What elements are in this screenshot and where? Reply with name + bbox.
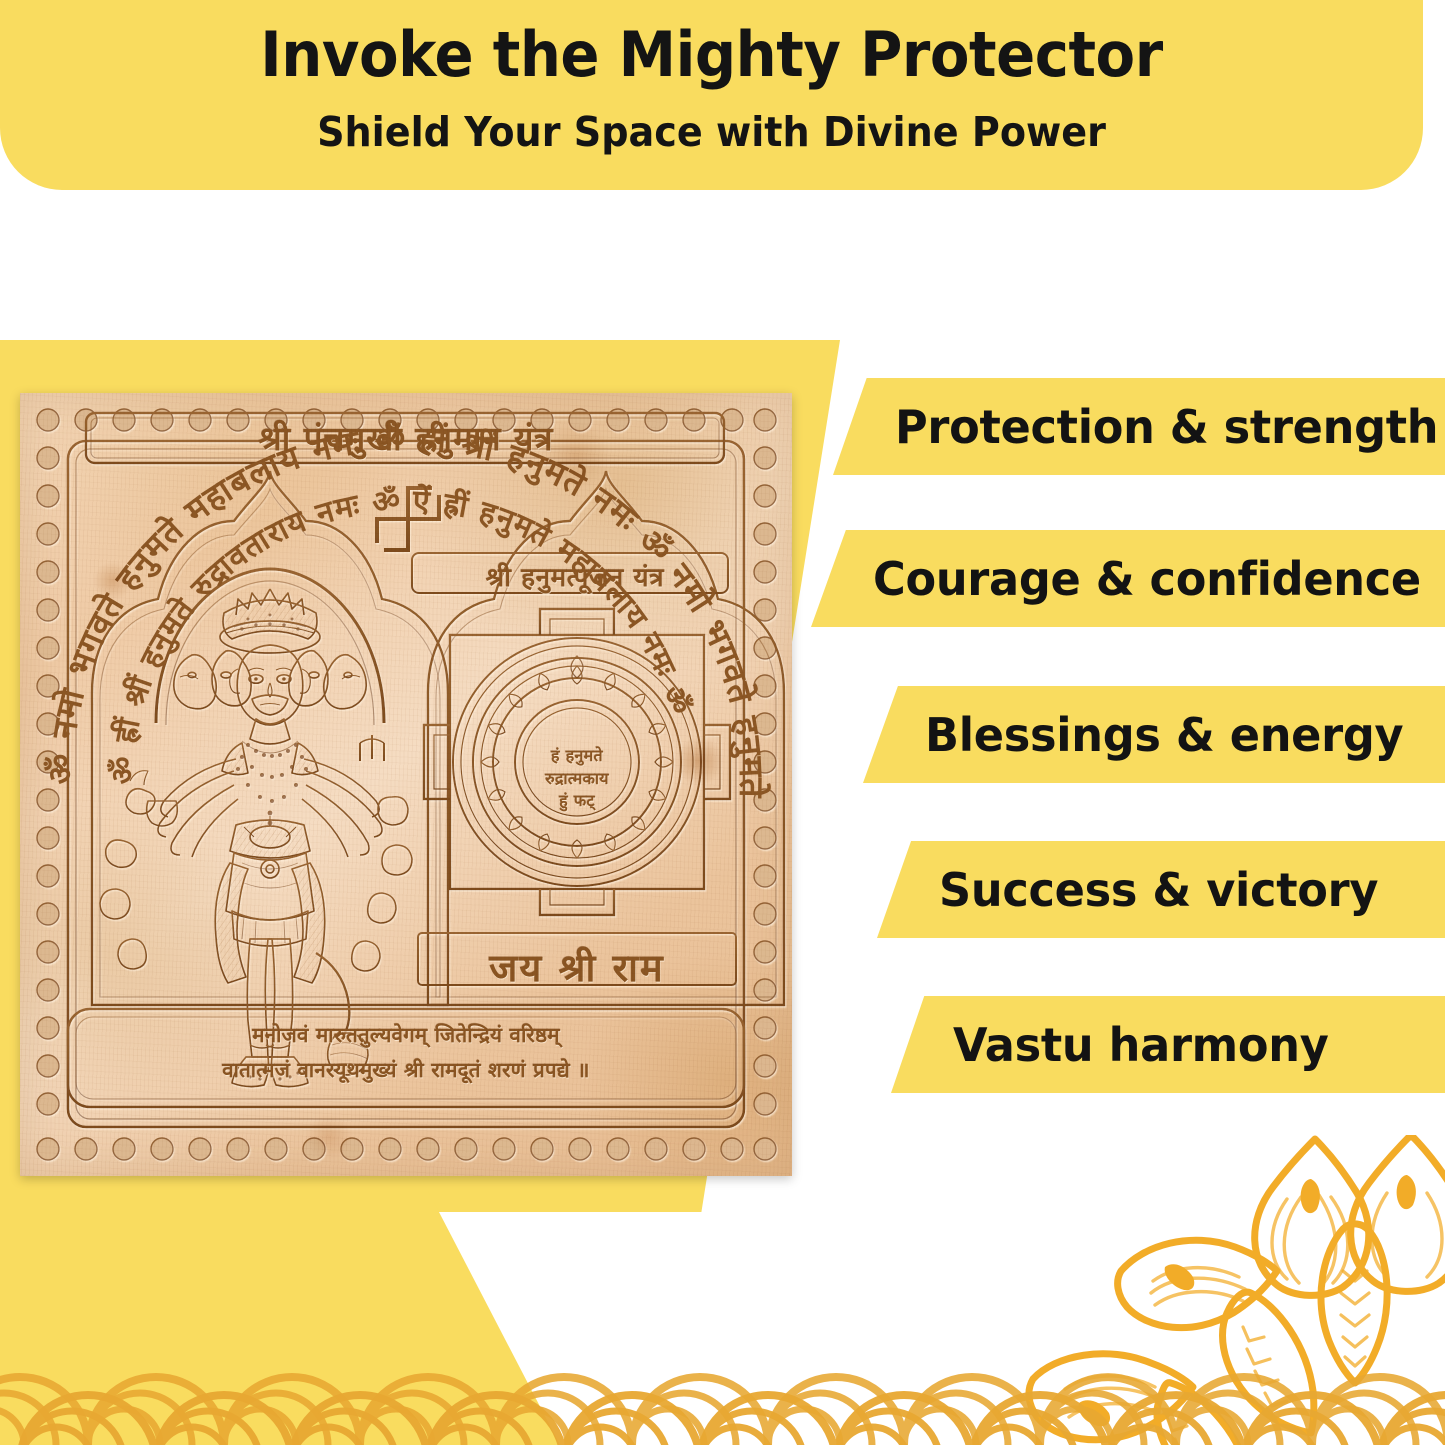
- poster-canvas: श्री पंचमुखी हनुमान यंत्र श्री हनुमत्पूज…: [0, 0, 1445, 1445]
- feature-label: Protection & strength: [895, 400, 1438, 454]
- feature-item-success[interactable]: Success & victory: [877, 841, 1445, 938]
- feature-label: Success & victory: [939, 863, 1378, 917]
- feature-label: Courage & confidence: [873, 552, 1421, 606]
- feature-list: Protection & strength Courage & confiden…: [0, 0, 1445, 1445]
- feature-label: Vastu harmony: [953, 1018, 1328, 1072]
- feature-item-courage[interactable]: Courage & confidence: [811, 530, 1445, 627]
- feature-item-blessings[interactable]: Blessings & energy: [863, 686, 1445, 783]
- feature-item-protection[interactable]: Protection & strength: [833, 378, 1445, 475]
- feature-item-vastu[interactable]: Vastu harmony: [891, 996, 1445, 1093]
- feature-label: Blessings & energy: [925, 708, 1403, 762]
